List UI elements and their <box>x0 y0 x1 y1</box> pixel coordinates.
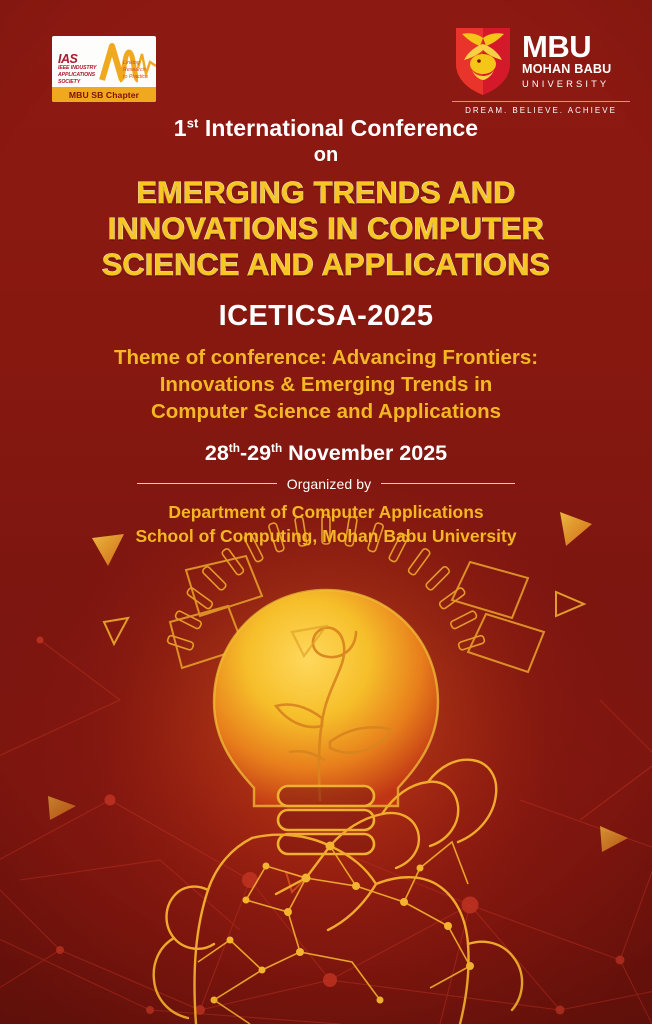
mbu-divider <box>452 101 630 102</box>
ias-society-line3: SOCIETY <box>58 79 80 85</box>
on-label: on <box>0 144 652 166</box>
ias-tagline-line1: Linking <box>123 60 140 66</box>
mbu-initials: MBU <box>522 33 611 62</box>
start-day-suffix: th <box>229 441 240 455</box>
organizer-line1: Department of Computer Applications <box>0 500 652 525</box>
mbu-tagline: DREAM. BELIEVE. ACHIEVE <box>452 106 630 115</box>
conference-theme: Theme of conference: Advancing Frontiers… <box>0 344 652 426</box>
organized-by-divider: Organized by <box>112 476 540 492</box>
theme-line1: Theme of conference: Advancing Frontiers… <box>0 344 652 371</box>
ieee-chapter-banner: MBU SB Chapter <box>52 87 156 102</box>
conference-ordinal-suffix: st <box>187 115 199 130</box>
conference-dates: 28th-29th November 2025 <box>0 441 652 466</box>
mbu-university-name: MOHAN BABU <box>522 62 611 76</box>
mohan-babu-university-logo: MBU MOHAN BABU UNIVERSITY DREAM. BELIEVE… <box>452 24 630 115</box>
mbu-university-word: UNIVERSITY <box>522 78 611 89</box>
conference-acronym: ICETICSA-2025 <box>0 300 652 333</box>
end-day-suffix: th <box>271 441 282 455</box>
theme-line2: Innovations & Emerging Trends in <box>0 371 652 398</box>
divider-rule-right <box>381 483 515 484</box>
title-line2: INNOVATIONS IN COMPUTER <box>0 211 652 247</box>
month-year: November 2025 <box>288 442 447 466</box>
ias-tagline-line3: to Practice <box>123 74 148 80</box>
ias-society-line1: IEEE INDUSTRY <box>58 65 96 71</box>
ias-society-line2: APPLICATIONS <box>58 72 95 78</box>
mbu-eagle-crest-icon <box>452 24 514 96</box>
title-line3: SCIENCE AND APPLICATIONS <box>0 247 652 283</box>
end-day: 29 <box>247 442 271 466</box>
conference-label: International Conference <box>205 115 478 141</box>
ieee-ias-logo: IAS IEEE INDUSTRY APPLICATIONS SOCIETY L… <box>52 36 156 102</box>
ias-tagline-line2: Research <box>123 67 146 73</box>
start-day: 28 <box>205 442 229 466</box>
ias-acronym: IAS <box>58 52 77 66</box>
theme-line3: Computer Science and Applications <box>0 398 652 425</box>
conference-poster: IAS IEEE INDUSTRY APPLICATIONS SOCIETY L… <box>0 0 652 1024</box>
organizer-details: Department of Computer Applications Scho… <box>0 500 652 550</box>
title-line1: EMERGING TRENDS AND <box>0 175 652 211</box>
organized-by-label: Organized by <box>287 476 371 492</box>
page-title: EMERGING TRENDS AND INNOVATIONS IN COMPU… <box>0 175 652 284</box>
divider-rule-left <box>137 483 277 484</box>
organizer-line2: School of Computing, Mohan Babu Universi… <box>0 524 652 549</box>
conference-ordinal-line: 1st International Conference <box>0 116 652 142</box>
conference-ordinal: 1 <box>174 115 187 141</box>
ias-tagline: Linking Research to Practice <box>123 60 151 80</box>
